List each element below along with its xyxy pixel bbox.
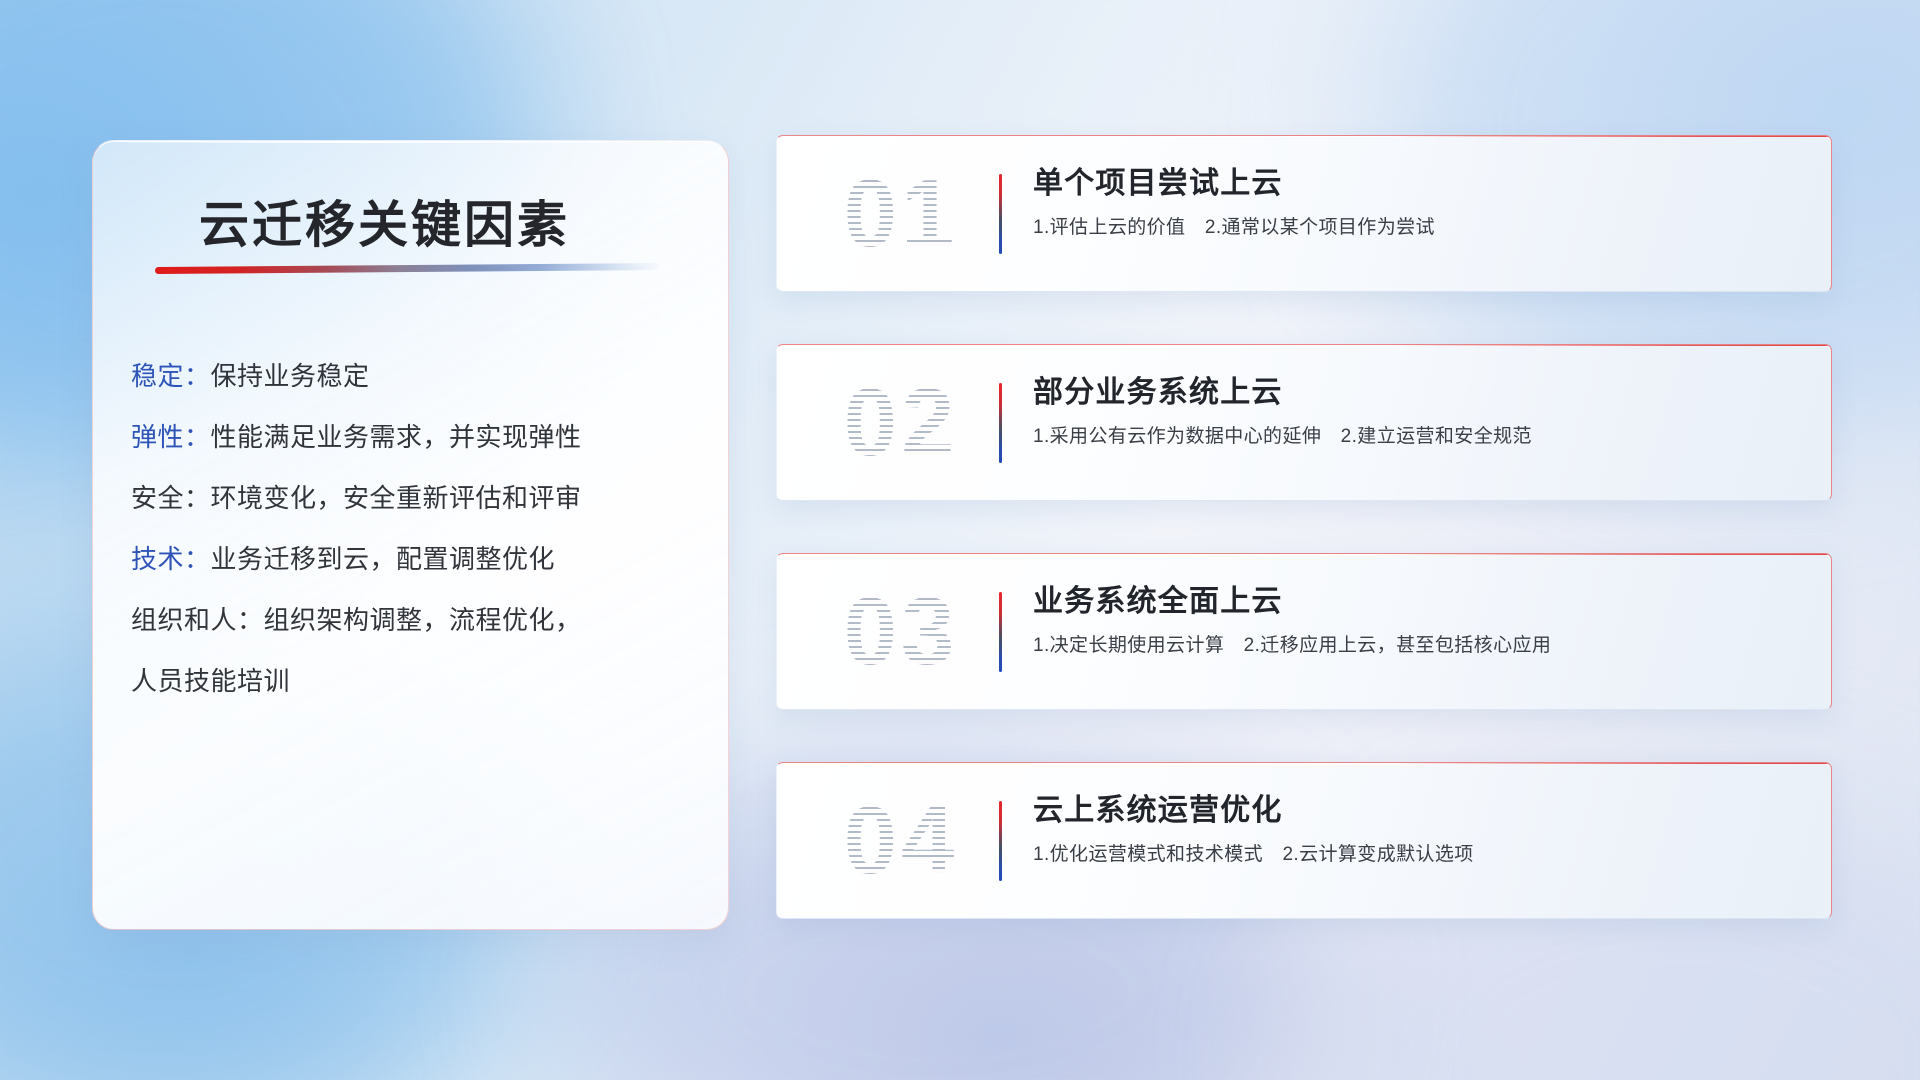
stage-card[interactable]: 03 业务系统全面上云 1.决定长期使用云计算 2.迁移应用上云，甚至包括核心应… [776,553,1832,710]
stage-accent-bar [999,592,1002,672]
stage-title: 业务系统全面上云 [1033,580,1807,624]
stage-number: 02 [803,353,999,493]
list-item: 安全：环境变化，安全重新评估和评审 [131,468,701,529]
stage-card-list: 01 单个项目尝试上云 1.评估上云的价值 2.通常以某个项目作为尝试 02 部… [776,135,1836,919]
stage-number: 04 [803,771,999,911]
key-factors-list: 稳定：保持业务稳定 弹性：性能满足业务需求，并实现弹性 安全：环境变化，安全重新… [131,346,701,712]
page-title: 云迁移关键因素 [199,185,570,257]
slide-canvas: 云迁移关键因素 稳定：保持业务稳定 弹性：性能满足业务需求，并实现弹性 安全：环… [0,0,1920,1080]
stage-card[interactable]: 04 云上系统运营优化 1.优化运营模式和技术模式 2.云计算变成默认选项 [776,762,1832,919]
stage-accent-bar [999,801,1002,881]
stage-accent-bar [999,383,1002,463]
list-item-text: 环境变化，安全重新评估和评审 [211,483,582,513]
list-item-label: 弹性： [131,422,211,452]
stage-subtitle: 1.优化运营模式和技术模式 2.云计算变成默认选项 [1033,841,1807,869]
stage-subtitle: 1.采用公有云作为数据中心的延伸 2.建立运营和安全规范 [1033,423,1807,451]
stage-title: 部分业务系统上云 [1033,371,1807,415]
stage-card[interactable]: 02 部分业务系统上云 1.采用公有云作为数据中心的延伸 2.建立运营和安全规范 [776,344,1832,501]
list-item-text: 业务迁移到云，配置调整优化 [211,544,556,574]
list-item-text: 保持业务稳定 [211,361,370,391]
list-item-text: 性能满足业务需求，并实现弹性 [211,422,582,452]
list-item-text: 人员技能培训 [131,666,290,696]
stage-card-body: 业务系统全面上云 1.决定长期使用云计算 2.迁移应用上云，甚至包括核心应用 [1033,580,1807,660]
stage-card-body: 部分业务系统上云 1.采用公有云作为数据中心的延伸 2.建立运营和安全规范 [1033,371,1807,451]
list-item: 稳定：保持业务稳定 [131,346,701,407]
stage-number: 03 [803,562,999,702]
stage-title: 单个项目尝试上云 [1033,162,1807,206]
list-item-label: 稳定： [131,361,211,391]
stage-subtitle: 1.评估上云的价值 2.通常以某个项目作为尝试 [1033,214,1807,242]
stage-title: 云上系统运营优化 [1033,789,1807,833]
title-underline-accent [155,263,660,274]
stage-subtitle: 1.决定长期使用云计算 2.迁移应用上云，甚至包括核心应用 [1033,632,1807,660]
list-item-text: 组织架构调整，流程优化， [264,605,582,635]
list-item-label: 技术： [131,544,211,574]
list-item-label: 安全： [131,483,211,513]
stage-number: 01 [803,144,999,284]
stage-card[interactable]: 01 单个项目尝试上云 1.评估上云的价值 2.通常以某个项目作为尝试 [776,135,1832,292]
stage-card-body: 单个项目尝试上云 1.评估上云的价值 2.通常以某个项目作为尝试 [1033,162,1807,242]
list-item: 组织和人：组织架构调整，流程优化， [131,590,701,651]
list-item: 弹性：性能满足业务需求，并实现弹性 [131,407,701,468]
list-item: 人员技能培训 [131,651,701,712]
stage-accent-bar [999,174,1002,254]
key-factors-panel: 云迁移关键因素 稳定：保持业务稳定 弹性：性能满足业务需求，并实现弹性 安全：环… [92,140,729,930]
list-item-label: 组织和人： [131,605,264,635]
stage-card-body: 云上系统运营优化 1.优化运营模式和技术模式 2.云计算变成默认选项 [1033,789,1807,869]
list-item: 技术：业务迁移到云，配置调整优化 [131,529,701,590]
